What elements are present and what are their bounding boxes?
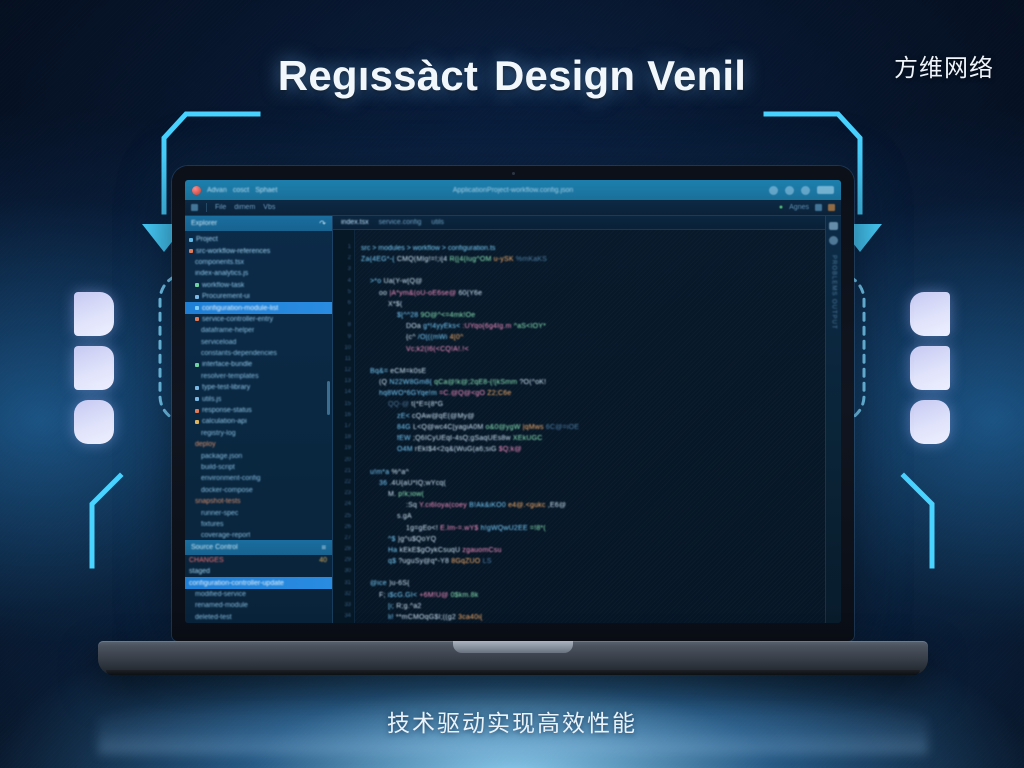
file-tree-label: runner-spec (201, 510, 238, 517)
file-tree-label: dataframe-helper (201, 327, 254, 334)
line-number: 32 (344, 589, 354, 600)
code-token: Bq&= (370, 368, 390, 375)
code-line: DOa g*!4yyEks< :UYqo{6g4Ig.m ^aS<IOY* (355, 321, 825, 332)
code-token: .4U{aU*IQ;wYcq( (389, 480, 446, 487)
file-type-icon (195, 420, 199, 424)
code-line: Bq&= eCM=k0sE (355, 366, 825, 377)
minimap-icon[interactable] (829, 222, 838, 230)
menu-item-0[interactable]: File (215, 204, 226, 211)
file-tree-label: snapshot-tests (195, 498, 241, 505)
code-token: 4[0^ (450, 334, 464, 341)
file-tree-row[interactable]: src-workflow-references (185, 245, 332, 256)
code-token: Vc;k2(I6(<CQ!A!.!< (406, 346, 469, 353)
code-token: {c^ (406, 334, 418, 341)
tab-0[interactable]: index.tsx (341, 219, 369, 226)
code-token: O4M (397, 446, 415, 453)
line-number: 16 (344, 410, 354, 421)
code-line: @ice )u-6S{ (355, 578, 825, 589)
code-token: ;Q6ICyUEqI-4sQ;gSaqUEs8w (413, 435, 513, 442)
code-line: 36 .4U{aU*IQ;wYcq( (355, 478, 825, 489)
line-number: 33 (344, 600, 354, 611)
code-token: [i; (388, 603, 396, 610)
file-tree-label: components.tsx (195, 259, 244, 266)
source-control-title: Source Control (191, 544, 238, 551)
line-number: 15 (344, 399, 354, 410)
file-tree-row[interactable]: build-script (185, 462, 332, 473)
code-token: Ha (388, 547, 400, 554)
file-tree-label: service-controller-entry (202, 316, 273, 323)
file-type-icon (195, 306, 199, 310)
menu-grid-icon[interactable] (191, 204, 198, 211)
code-token: F; (379, 592, 388, 599)
file-tree-label: deploy (195, 441, 216, 448)
code-token: |qMws (523, 424, 546, 431)
file-tree-row[interactable]: utils.js (185, 393, 332, 404)
titlebar-label-2[interactable]: Sphaet (255, 187, 277, 194)
line-number: 1 (348, 242, 354, 253)
file-tree-row[interactable]: snapshot-tests (185, 496, 332, 507)
code-token: R{[4{Iug^OM (449, 256, 493, 263)
code-token: rEkI$4<2q&(WuG(a6;siG (415, 446, 499, 453)
line-number: 13 (344, 376, 354, 387)
code-token: ?uguSy@q*-Y8 (398, 558, 451, 565)
line-number: 18 (344, 432, 354, 443)
code-token: Za{4EG*-{ (361, 256, 397, 263)
help-circle-icon[interactable] (801, 186, 810, 195)
file-tree-row[interactable]: configuration-module-list (185, 302, 332, 313)
code-token: e4@.<gukc (508, 502, 548, 509)
file-type-icon (195, 386, 199, 390)
line-number: 4 (348, 276, 354, 287)
code-line: u!m*a %^a^ (355, 467, 825, 478)
line-number: 30 (344, 566, 354, 577)
code-line: oo |A*ym&(oU-oE6se@ 60{Y6e (355, 288, 825, 299)
file-tree-row[interactable]: calculation-api (185, 416, 332, 427)
menu-item-1[interactable]: dimem (234, 204, 255, 211)
line-number-gutter: 1234567891011121314151617181920212223242… (333, 230, 355, 623)
code-line (355, 265, 825, 276)
code-token: LS (483, 558, 492, 565)
file-tree-row[interactable]: constants-dependencies (185, 348, 332, 359)
laptop-base (98, 641, 928, 675)
chip-module-6 (910, 400, 950, 444)
file-tree-label: Project (196, 236, 218, 243)
code-token: 36 (379, 480, 389, 487)
code-token: cQAw@qE(@My@ (412, 413, 475, 420)
code-token: (Q (379, 379, 389, 386)
code-token: :UYqo{6g4Ig.m (463, 323, 514, 330)
source-control-label: renamed-module (195, 602, 248, 609)
line-number: 22 (344, 477, 354, 488)
file-tree-label: docker-compose (201, 487, 253, 494)
user-account-icon[interactable]: ● (779, 204, 783, 211)
breadcrumb[interactable]: src > modules > workflow > configuration… (355, 242, 825, 254)
code-line (355, 355, 825, 366)
chip-module-2 (74, 346, 114, 390)
line-number: 26 (344, 522, 354, 533)
file-type-icon (189, 249, 193, 253)
line-number: 28 (344, 544, 354, 555)
source-control-panel-header[interactable]: Source Control ≡ (185, 540, 332, 555)
line-number: 3 (348, 264, 354, 275)
page-title-part1: Regıssàct (278, 52, 478, 99)
file-tree-row[interactable]: resolver-templates (185, 371, 332, 382)
code-token: L<Q@wc4C[yagiA0M (413, 424, 486, 431)
code-line: F; i$cG.GI< +6M!U@ 0$km.8k (355, 590, 825, 601)
file-type-icon (195, 317, 199, 321)
ide-editor: index.tsx service.config utils 123456789… (333, 216, 825, 623)
tab-2[interactable]: utils (431, 219, 443, 226)
file-tree-row[interactable]: registry-log (185, 428, 332, 439)
line-number: 23 (344, 488, 354, 499)
code-line: [i; R;g.^a2 (355, 601, 825, 612)
code-line: X*$( (355, 299, 825, 310)
code-token: M. (388, 491, 398, 498)
code-token: **mCMOqG$I;((g2 (396, 614, 458, 621)
file-tree-row[interactable]: interface-bundle (185, 359, 332, 370)
code-token: hq8WO*6GYqe!m (379, 390, 439, 397)
code-token: +6M!U@ (419, 592, 450, 599)
line-number: 9 (348, 332, 354, 343)
code-token: zgauomCsu (462, 547, 501, 554)
code-token: u-ySK (494, 256, 516, 263)
file-tree-label: coverage-report (201, 532, 250, 539)
code-token: li! (388, 614, 396, 621)
file-tree-row[interactable]: runner-spec (185, 507, 332, 518)
ide-sidebar: Explorer ↷ Projectsrc-workflow-reference… (185, 216, 333, 623)
line-number: 34 (344, 611, 354, 622)
file-tree-label: src-workflow-references (196, 248, 270, 255)
code-line (355, 455, 825, 466)
code-token: B!Ak&iKO0 (469, 502, 508, 509)
line-number: 25 (344, 511, 354, 522)
file-tree-label: workflow-task (202, 282, 244, 289)
poster-stage: RegıssàctDesign Venil 方维网络 技术驱动实现高效性能 (0, 0, 1024, 768)
file-tree[interactable]: Projectsrc-workflow-referencescomponents… (185, 231, 332, 540)
file-tree-label: utils.js (202, 396, 221, 403)
line-number: 7 (348, 309, 354, 320)
code-token: ^aS<IOY* (514, 323, 546, 330)
file-tree-row[interactable]: workflow-task (185, 280, 332, 291)
file-tree-row[interactable]: index-analytics.js (185, 268, 332, 279)
code-token: R;g.^a2 (396, 603, 421, 610)
more-actions-icon[interactable]: ≡ (321, 543, 326, 552)
code-token: qCa@!k@;2qE8-{![kSmm (434, 379, 519, 386)
laptop-mockup: Advan cosct Sphaet ApplicationProject-wo… (172, 166, 854, 675)
file-tree-label: calculation-api (202, 418, 247, 425)
code-token: p!k;iow( (398, 491, 424, 498)
file-tree-label: configuration-module-list (202, 305, 278, 312)
brand-watermark: 方维网络 (894, 48, 994, 83)
page-title-part2: Design Venil (494, 52, 746, 99)
code-token: zE< (397, 413, 412, 420)
line-number: 10 (344, 343, 354, 354)
file-tree-label: interface-bundle (202, 361, 252, 368)
code-token: u!m*a (370, 469, 391, 476)
document-title: ApplicationProject-workflow.config.json (185, 187, 841, 194)
line-number: 5 (348, 287, 354, 298)
line-number: 8 (348, 320, 354, 331)
file-tree-row[interactable]: serviceload (185, 337, 332, 348)
code-token: 0$km.8k (451, 592, 479, 599)
file-tree-row[interactable]: components.tsx (185, 257, 332, 268)
ide-titlebar: Advan cosct Sphaet ApplicationProject-wo… (185, 180, 841, 200)
laptop-notch (453, 641, 573, 653)
chip-module-5 (910, 346, 950, 390)
source-control-row[interactable]: CHANGES40 (185, 555, 332, 566)
code-line: Za{4EG*-{ CMQ(MIg!=!;i[4 R{[4{Iug^OM u-y… (355, 254, 825, 265)
code-area[interactable]: 1234567891011121314151617181920212223242… (333, 230, 825, 623)
line-number: 11 (345, 354, 354, 365)
line-number: 27 (344, 533, 354, 544)
file-tree-label: serviceload (201, 339, 236, 346)
ide-body: Explorer ↷ Projectsrc-workflow-reference… (185, 216, 841, 623)
code-token: =!8*( (530, 525, 546, 532)
collapse-all-icon[interactable]: ↷ (319, 219, 326, 228)
file-tree-label: environment-config (201, 475, 261, 482)
code-token: fEW (397, 435, 413, 442)
source-control-row[interactable]: modified-service (185, 589, 332, 600)
file-tree-row[interactable]: deploy (185, 439, 332, 450)
page-title: RegıssàctDesign Venil (0, 52, 1024, 100)
code-token: 60{Y6e (458, 290, 482, 297)
editor-tabbar: index.tsx service.config utils (333, 216, 825, 230)
line-number: 12 (344, 365, 354, 376)
code-token: |A*ym&(oU-oE6se@ (389, 290, 458, 297)
file-tree-row[interactable]: docker-compose (185, 485, 332, 496)
code-token: s.gA (397, 513, 412, 520)
user-circle-icon[interactable] (769, 186, 778, 195)
code-token: N22W8Gm8{ (389, 379, 434, 386)
laptop-lid: Advan cosct Sphaet ApplicationProject-wo… (172, 166, 854, 641)
file-type-icon (195, 283, 199, 287)
file-tree-label: response-status (202, 407, 252, 414)
code-token: h!gWQwU2EE (481, 525, 530, 532)
file-type-icon (195, 409, 199, 413)
file-tree-row[interactable]: coverage-report (185, 530, 332, 540)
line-number: 35 (344, 622, 354, 623)
code-token: t{*E={8*G (411, 401, 443, 408)
code-line: li! **mCMOqG$I;((g2 3ca40i{ (355, 612, 825, 623)
window-controls[interactable] (817, 186, 834, 194)
file-type-icon (195, 295, 199, 299)
line-number: 6 (348, 298, 354, 309)
code-token: i$cG.GI< (388, 592, 420, 599)
code-token: g*!4yyEks< (423, 323, 462, 330)
file-tree-label: registry-log (201, 430, 236, 437)
bell-circle-icon[interactable] (785, 186, 794, 195)
code-line: 1g=gEo<! E.Im-=.wY$ h!gWQwU2EE =!8*( (355, 523, 825, 534)
code-token: XEkUGC (513, 435, 543, 442)
code-token: ,E6@ (548, 502, 566, 509)
titlebar-label-1[interactable]: cosct (233, 187, 249, 194)
ide-menubar: File dimem Vbs ● Agnes (185, 200, 841, 216)
file-tree-label: constants-dependencies (201, 350, 277, 357)
code-token: ?O(^oK! (519, 379, 546, 386)
file-tree-label: package.json (201, 453, 242, 460)
code-token: 6C@=iOE (546, 424, 579, 431)
code-token: o&0@ygW (486, 424, 523, 431)
code-token: q$ (388, 558, 398, 565)
ide-screen: Advan cosct Sphaet ApplicationProject-wo… (185, 180, 841, 623)
code-line: zE< cQAw@qE(@My@ (355, 411, 825, 422)
file-tree-row[interactable]: service-controller-entry (185, 314, 332, 325)
code-line: 84G L<Q@wc4C[yagiA0M o&0@ygW |qMws 6C@=i… (355, 422, 825, 433)
code-line: s.gA (355, 511, 825, 522)
source-control-row[interactable]: renamed-module (185, 600, 332, 611)
explorer-title: Explorer (191, 220, 217, 227)
user-label: Agnes (789, 204, 809, 211)
source-control-row[interactable]: configuration-controller-update (185, 577, 332, 588)
status-square-icon[interactable] (828, 204, 835, 211)
code-token: 8GqZUO (451, 558, 482, 565)
chip-module-4 (910, 292, 950, 336)
code-token: 1g=gEo<! (406, 525, 440, 532)
code-token: Z2;C6e (487, 390, 511, 397)
code-line: Ha kEkE$gOykCsuqU zgauomCsu (355, 545, 825, 556)
code-line: >*o Ua(Y-w[Q@ (355, 276, 825, 287)
code-token: eCM=k0sE (390, 368, 426, 375)
line-number: 2 (348, 253, 354, 264)
chip-group-right (910, 292, 950, 444)
rail-vertical-label: PROBLEMS OUTPUT (831, 255, 837, 330)
file-tree-row[interactable]: fixtures (185, 519, 332, 530)
code-token: DOa (406, 323, 423, 330)
code-token: X*$( (388, 301, 402, 308)
file-tree-label: Procurement-ui (202, 293, 250, 300)
grid-badge-icon[interactable] (815, 204, 822, 211)
file-tree-label: resolver-templates (201, 373, 259, 380)
editor-right-rail: PROBLEMS OUTPUT (825, 216, 841, 623)
sidebar-scrollbar[interactable] (327, 381, 330, 415)
sidebar-lower: Source Control ≡ CHANGES40stagedconfigur… (185, 540, 332, 623)
line-number: 24 (344, 499, 354, 510)
code-token: $[^^28 (397, 312, 421, 319)
line-number: 14 (344, 387, 354, 398)
line-number: 19 (344, 443, 354, 454)
file-type-icon (195, 397, 199, 401)
file-type-icon (189, 238, 193, 242)
file-tree-row[interactable]: Procurement-ui (185, 291, 332, 302)
chip-group-left (74, 292, 114, 444)
source-control-label: staged (189, 568, 210, 575)
code-line: Vc;k2(I6(<CQ!A!.!< (355, 344, 825, 355)
code-token: )u-6S{ (389, 580, 410, 587)
line-number: 21 (344, 466, 354, 477)
code-token: Ua(Y-w[Q@ (383, 278, 422, 285)
source-control-list[interactable]: CHANGES40stagedconfiguration-controller-… (185, 555, 332, 623)
code-token: QQ-@ (388, 401, 411, 408)
code-token: 84G (397, 424, 413, 431)
titlebar-actions (769, 186, 834, 195)
line-number: 17 (344, 421, 354, 432)
code-token: /O[((mWi (418, 334, 450, 341)
chip-module-1 (74, 292, 114, 336)
code-token: 9O@^<=4mk!Oe (421, 312, 476, 319)
source-control-label: modified-service (195, 591, 246, 598)
menubar-right: ● Agnes (779, 204, 835, 211)
source-control-label: deleted-test (195, 614, 232, 621)
titlebar-label-0[interactable]: Advan (207, 187, 227, 194)
line-number: 29 (344, 555, 354, 566)
code-token: ^$ (388, 536, 398, 543)
source-control-row[interactable]: deleted-test (185, 612, 332, 623)
breadcrumb-text: src > modules > workflow > configuration… (361, 245, 495, 252)
code-token: %mKaKS (516, 256, 547, 263)
code-token: }g^u$QoYQ (398, 536, 437, 543)
webcam-icon (512, 172, 515, 175)
code-line: fEW ;Q6ICyUEqI-4sQ;gSaqUEs8w XEkUGC (355, 433, 825, 444)
file-tree-row[interactable]: dataframe-helper (185, 325, 332, 336)
code-token: $Q;k@ (499, 446, 522, 453)
code-token: E.Im-=.wY$ (440, 525, 481, 532)
code-content[interactable]: src > modules > workflow > configuration… (355, 230, 825, 623)
laptop-base-edge (106, 670, 920, 675)
code-line: {c^ /O[((mWi 4[0^ (355, 332, 825, 343)
code-token: %^a^ (391, 469, 409, 476)
code-token: kEkE$gOykCsuqU (400, 547, 463, 554)
source-control-label: configuration-controller-update (189, 580, 284, 587)
code-line (355, 567, 825, 578)
code-line: hq8WO*6GYqe!m =C.@Q@<gO Z2;C6e (355, 388, 825, 399)
code-line: O4M rEkI$4<2q&(WuG(a6;siG $Q;k@ (355, 444, 825, 455)
file-tree-label: type-test-library (202, 384, 250, 391)
file-tree-row[interactable]: environment-config (185, 473, 332, 484)
code-line: q$ ?uguSy@q*-Y8 8GqZUO LS (355, 556, 825, 567)
code-token: CMQ(MIg!=!;i[4 (397, 256, 450, 263)
code-token: oo (379, 290, 389, 297)
file-tree-row[interactable]: response-status (185, 405, 332, 416)
code-line: M. p!k;iow( (355, 489, 825, 500)
file-tree-label: index-analytics.js (195, 270, 248, 277)
source-control-label: CHANGES (189, 557, 224, 564)
code-token: :Sq (406, 502, 419, 509)
code-token: >*o (370, 278, 383, 285)
line-number: 20 (344, 455, 354, 466)
code-line: (Q N22W8Gm8{ qCa@!k@;2qE8-{![kSmm ?O(^oK… (355, 377, 825, 388)
file-type-icon (195, 363, 199, 367)
file-tree-row[interactable]: Project (185, 234, 332, 245)
code-line: QQ-@ t{*E={8*G (355, 399, 825, 410)
code-token: 3ca40i{ (458, 614, 482, 621)
code-token: =C.@Q@<gO (439, 390, 487, 397)
page-caption: 技术驱动实现高效性能 (0, 704, 1024, 738)
app-logo-icon (192, 186, 201, 195)
code-token: @ice (370, 580, 389, 587)
line-number: 31 (344, 578, 354, 589)
tab-1[interactable]: service.config (379, 219, 422, 226)
code-token: Y.ci6Ioya(coey (419, 502, 469, 509)
menu-item-2[interactable]: Vbs (263, 204, 275, 211)
code-line: ^$ }g^u$QoYQ (355, 534, 825, 545)
file-tree-row[interactable]: type-test-library (185, 382, 332, 393)
source-control-row[interactable]: staged (185, 566, 332, 577)
file-tree-label: build-script (201, 464, 235, 471)
file-tree-label: fixtures (201, 521, 224, 528)
explorer-panel-header[interactable]: Explorer ↷ (185, 216, 332, 231)
code-line: :Sq Y.ci6Ioya(coey B!Ak&iKO0 e4@.<gukc ,… (355, 500, 825, 511)
settings-gear-icon[interactable] (829, 236, 838, 245)
change-count-badge: 40 (319, 557, 327, 564)
chip-module-3 (74, 400, 114, 444)
file-tree-row[interactable]: package.json (185, 450, 332, 461)
code-line: $[^^28 9O@^<=4mk!Oe (355, 310, 825, 321)
